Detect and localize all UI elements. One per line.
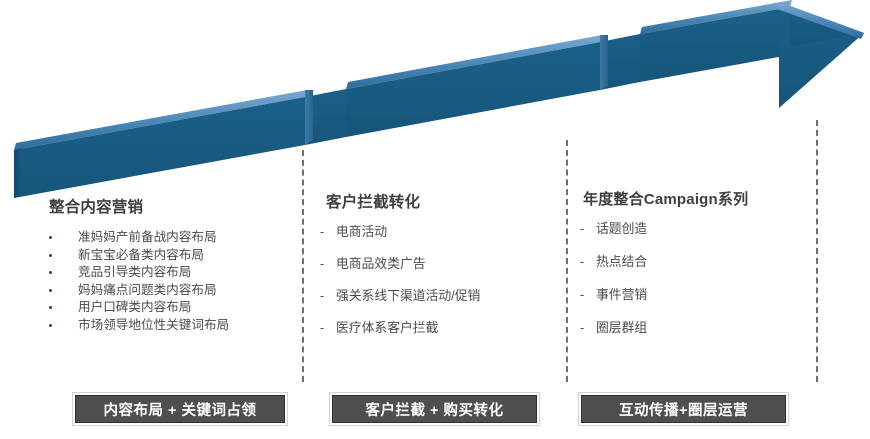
column-1-title: 整合内容营销 [40,195,295,217]
bullet-icon [49,324,52,327]
list-item: - 医疗体系客户拦截 [320,320,560,336]
list-item: - 话题创造 [580,221,812,237]
list-item-label: 用户口碑类内容布局 [78,300,191,314]
dash-icon: - [580,254,584,270]
dash-icon: - [320,320,324,336]
list-item-label: 热点结合 [596,254,647,269]
list-item: - 电商活动 [320,224,560,240]
list-item-label: 电商活动 [336,224,387,239]
list-item: 竞品引导类内容布局 [40,264,295,282]
summary-tag-3: 互动传播+圈层运营 [581,395,786,423]
stage-column-2: 客户拦截转化 - 电商活动 - 电商品效类广告 - 强关系线下渠道活动/促销 -… [320,190,560,352]
list-item: 用户口碑类内容布局 [40,299,295,317]
arrow-top-bevel [14,0,864,150]
summary-tag-1: 内容布局 + 关键词占领 [75,395,285,423]
list-item-label: 竞品引导类内容布局 [78,265,191,279]
dash-icon: - [580,320,584,336]
arrow-tail-cap [14,148,22,198]
bullet-icon [49,289,52,292]
column-3-title: 年度整合Campaign系列 [580,188,812,209]
dash-icon: - [580,221,584,237]
section-divider-3 [816,120,818,382]
section-divider-2 [566,140,568,382]
list-item: 妈妈痛点问题类内容布局 [40,282,295,300]
list-item-label: 事件营销 [596,287,647,302]
list-item: 市场领导地位性关键词布局 [40,317,295,335]
list-item: - 热点结合 [580,254,812,270]
dash-icon: - [580,287,584,303]
dash-icon: - [320,224,324,240]
list-item-label: 妈妈痛点问题类内容布局 [78,283,217,297]
section-divider-1 [302,150,304,382]
list-item: - 电商品效类广告 [320,256,560,272]
list-item: - 圈层群组 [580,320,812,336]
list-item-label: 强关系线下渠道活动/促销 [336,288,480,303]
arrow-shadow [18,96,300,166]
bullet-icon [49,236,52,239]
column-1-list: 准妈妈产前备战内容布局 新宝宝必备类内容布局 竞品引导类内容布局 妈妈痛点问题类… [40,229,295,334]
list-item-label: 准妈妈产前备战内容布局 [78,230,217,244]
stage-column-1: 整合内容营销 准妈妈产前备战内容布局 新宝宝必备类内容布局 竞品引导类内容布局 … [40,195,295,334]
bullet-icon [49,306,52,309]
list-item: 准妈妈产前备战内容布局 [40,229,295,247]
column-3-list: - 话题创造 - 热点结合 - 事件营销 - 圈层群组 [580,221,812,336]
list-item: - 事件营销 [580,287,812,303]
bullet-icon [49,254,52,257]
list-item: 新宝宝必备类内容布局 [40,247,295,265]
list-item-label: 话题创造 [596,221,647,236]
arrow-step-bevels [305,35,608,145]
dash-icon: - [320,288,324,304]
list-item-label: 电商品效类广告 [336,256,426,271]
summary-tag-2: 客户拦截 + 购买转化 [332,395,537,423]
bullet-icon [49,271,52,274]
list-item-label: 医疗体系客户拦截 [336,320,438,335]
column-2-title: 客户拦截转化 [320,190,560,212]
stage-column-3: 年度整合Campaign系列 - 话题创造 - 热点结合 - 事件营销 - 圈层… [580,188,812,353]
list-item-label: 圈层群组 [596,320,647,335]
column-2-list: - 电商活动 - 电商品效类广告 - 强关系线下渠道活动/促销 - 医疗体系客户… [320,224,560,336]
diagram-canvas: 整合内容营销 准妈妈产前备战内容布局 新宝宝必备类内容布局 竞品引导类内容布局 … [0,0,870,439]
arrow-body [14,2,864,198]
list-item: - 强关系线下渠道活动/促销 [320,288,560,304]
dash-icon: - [320,256,324,272]
list-item-label: 新宝宝必备类内容布局 [78,248,204,262]
list-item-label: 市场领导地位性关键词布局 [78,318,229,332]
